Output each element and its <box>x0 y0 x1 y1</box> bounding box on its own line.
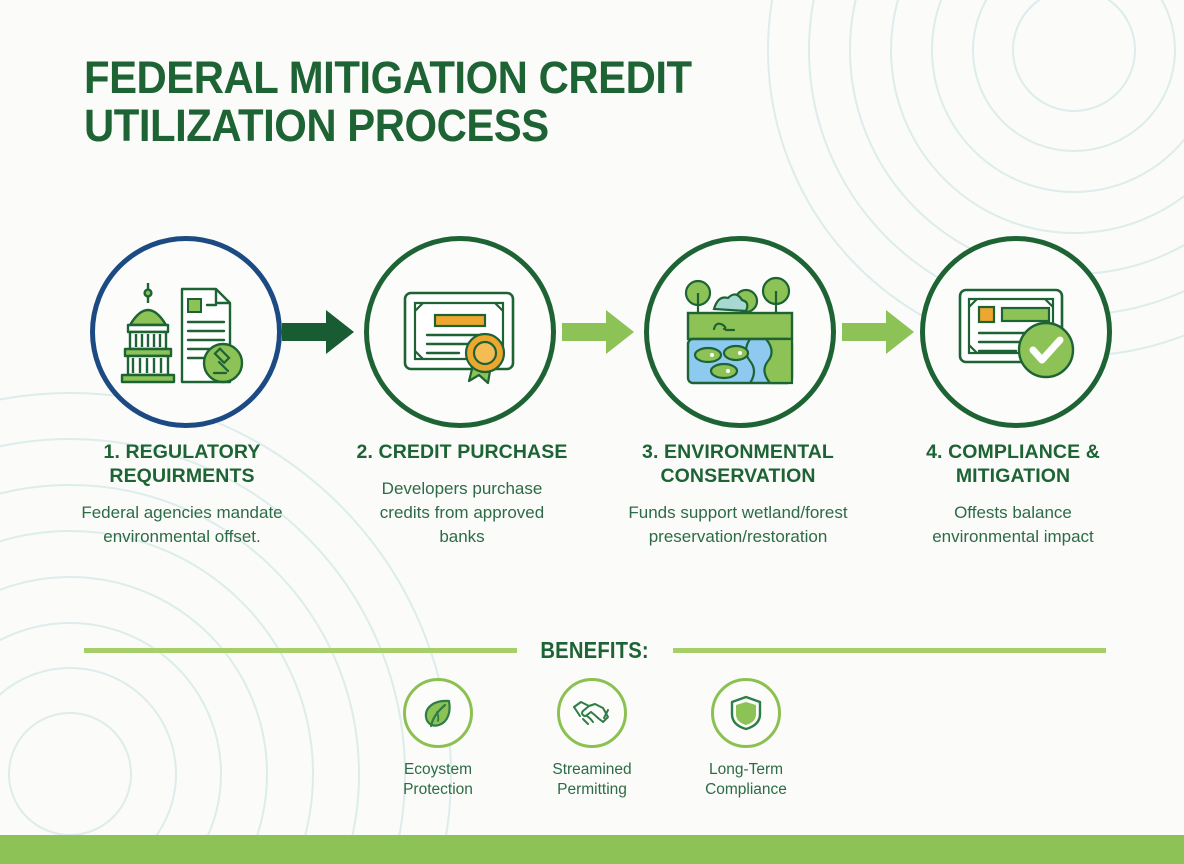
benefit-item-streamlined-permitting: Streamined Permitting <box>533 678 651 800</box>
step-4-icon-circle <box>920 236 1112 428</box>
benefit-item-ecosystem-protection: Ecoystem Protection <box>379 678 497 800</box>
step-2-heading: 2. CREDIT PURCHASE <box>340 440 584 464</box>
step-1-description: Federal agencies mandate environmental o… <box>56 501 308 549</box>
step-3-text: 3. ENVIRONMENTAL CONSERVATION Funds supp… <box>610 440 866 549</box>
step-1-heading: 1. REGULATORY REQUIRMENTS <box>56 440 308 488</box>
arrow-step3-to-step4 <box>842 310 914 354</box>
certificate-seal-icon <box>397 277 523 387</box>
step-3-icon-circle <box>644 236 836 428</box>
bottom-accent-band <box>0 835 1184 864</box>
leaf-icon <box>420 695 456 731</box>
benefits-title: BENEFITS: <box>541 637 649 664</box>
shield-icon <box>730 695 762 731</box>
step-2-icon-circle <box>364 236 556 428</box>
arrow-step2-to-step3 <box>562 310 634 354</box>
benefit-label-2: Streamined Permitting <box>533 760 651 800</box>
step-2-description: Developers purchase credits from approve… <box>340 477 584 549</box>
step-4-text: 4. COMPLIANCE & MITIGATION Offests balan… <box>898 440 1128 549</box>
capitol-document-gavel-icon <box>120 277 252 387</box>
page-title: FEDERAL MITIGATION CREDIT UTILIZATION PR… <box>84 54 754 150</box>
arrow-step1-to-step2 <box>282 310 354 354</box>
step-4-description: Offests balance environmental impact <box>898 501 1128 549</box>
benefits-rule-left <box>84 648 517 653</box>
benefit-label-3: Long-Term Compliance <box>687 760 805 800</box>
step-1-text: 1. REGULATORY REQUIRMENTS Federal agenci… <box>56 440 308 549</box>
wetland-landscape-icon <box>680 273 800 391</box>
benefit-icon-circle-2 <box>557 678 627 748</box>
benefit-icon-circle-3 <box>711 678 781 748</box>
benefit-label-1: Ecoystem Protection <box>379 760 497 800</box>
step-2-text: 2. CREDIT PURCHASE Developers purchase c… <box>340 440 584 549</box>
benefits-rule-right <box>673 648 1106 653</box>
benefits-divider: BENEFITS: <box>84 637 1106 664</box>
process-steps-row <box>0 232 1184 432</box>
benefits-row: Ecoystem Protection Streamined Permittin… <box>0 678 1184 800</box>
step-3-heading: 3. ENVIRONMENTAL CONSERVATION <box>610 440 866 488</box>
benefit-icon-circle-1 <box>403 678 473 748</box>
step-3-description: Funds support wetland/forest preservatio… <box>610 501 866 549</box>
benefit-item-long-term-compliance: Long-Term Compliance <box>687 678 805 800</box>
certificate-check-icon <box>954 280 1078 384</box>
infographic-canvas: FEDERAL MITIGATION CREDIT UTILIZATION PR… <box>0 0 1184 864</box>
handshake-icon <box>572 696 612 730</box>
step-1-icon-circle <box>90 236 282 428</box>
step-4-heading: 4. COMPLIANCE & MITIGATION <box>898 440 1128 488</box>
